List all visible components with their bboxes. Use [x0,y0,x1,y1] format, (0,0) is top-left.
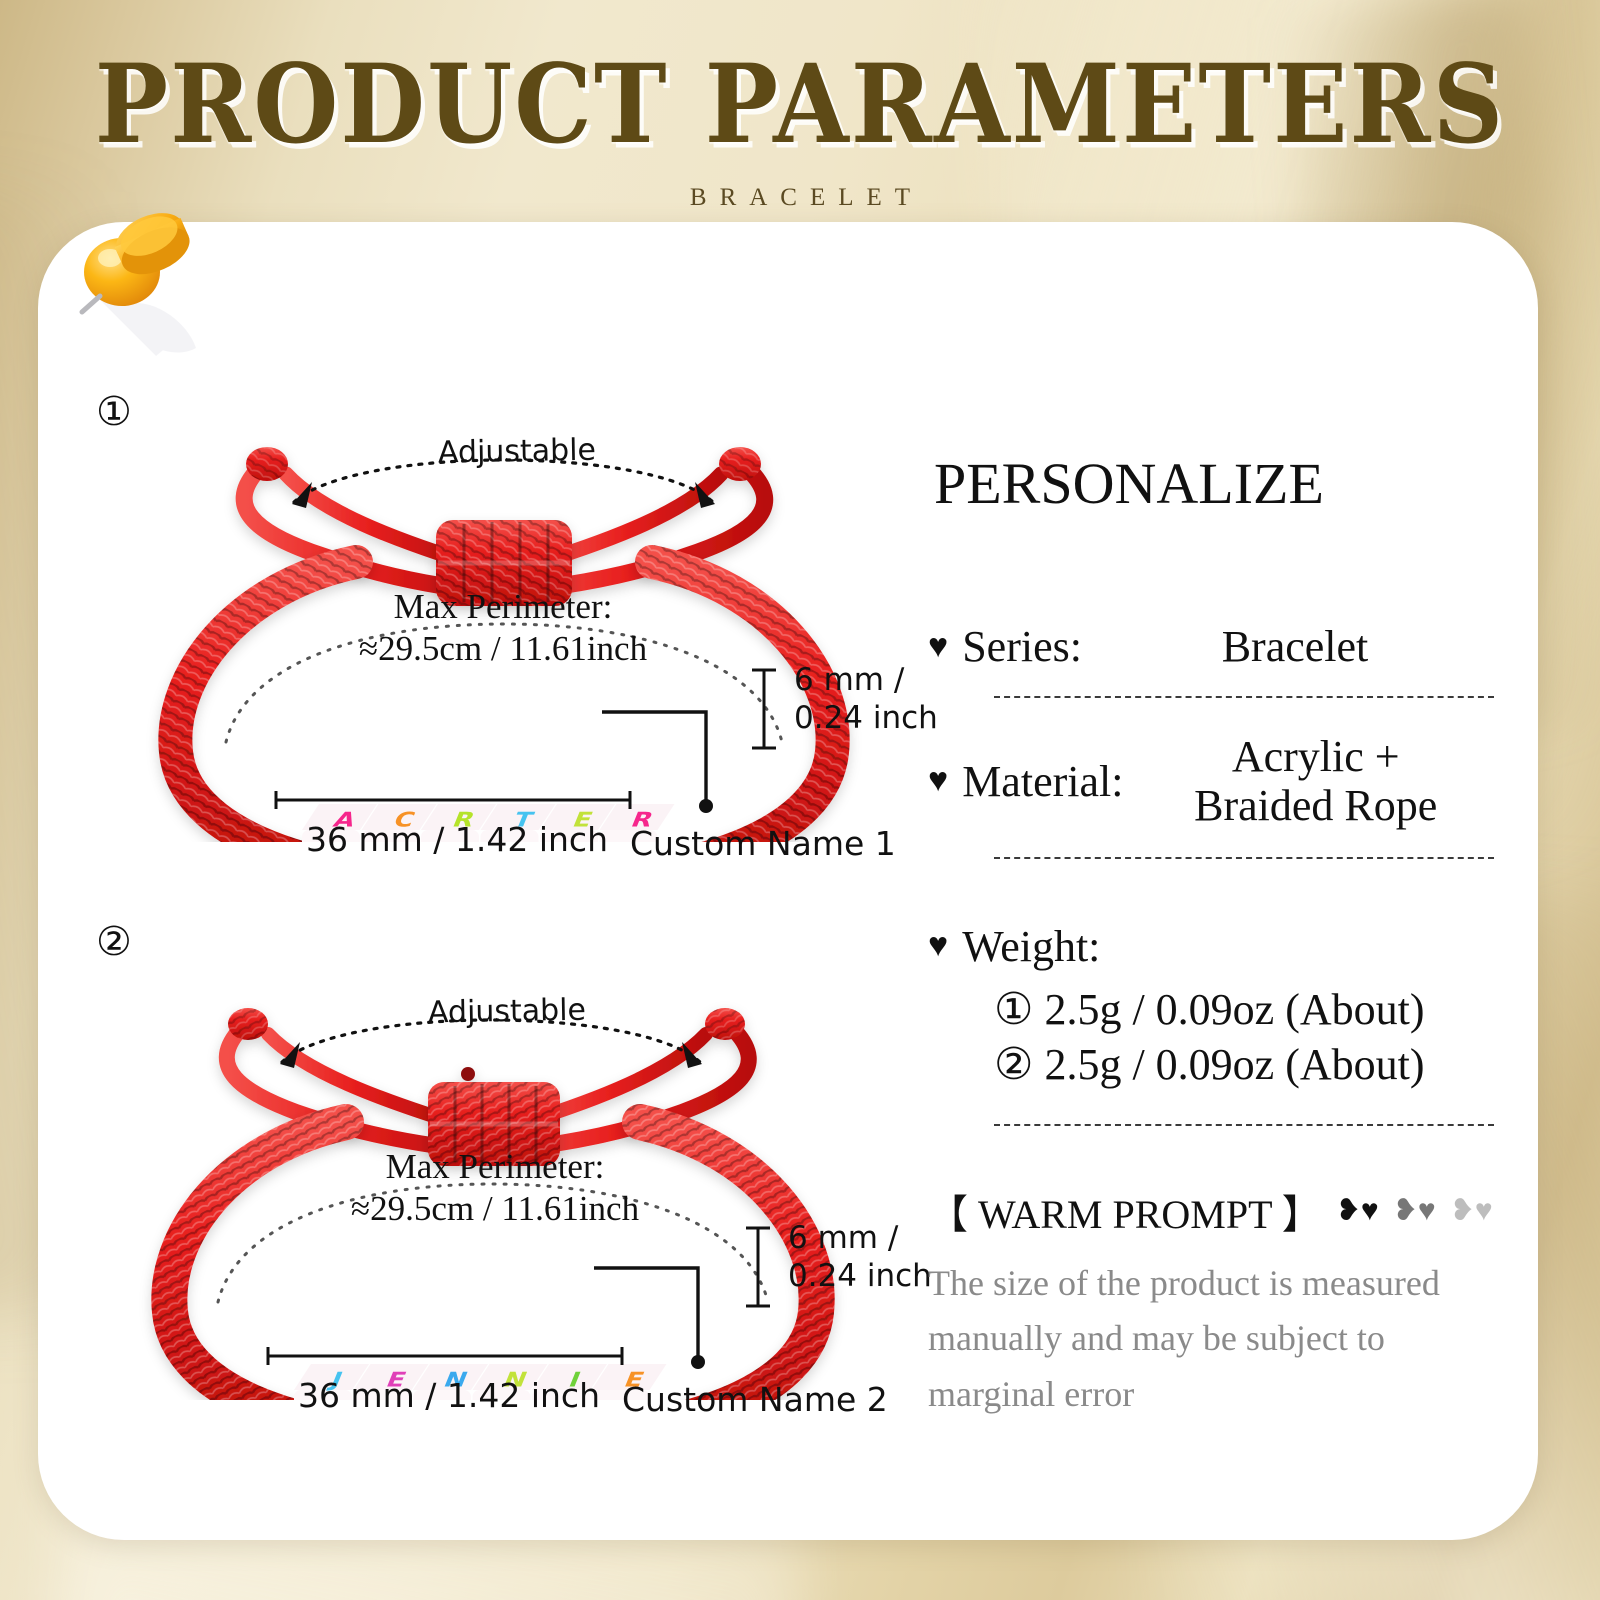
spec-divider-2 [994,857,1494,859]
page-subtitle: BRACELET [0,184,1600,212]
warm-prompt-heading: 【 WARM PROMPT 】 ❥♥ ❥♥ ❥♥ [928,1182,1508,1240]
heart-icon: ♥ [928,929,948,963]
adjustable-label-2: Adjustable [428,993,587,1032]
spec-row-weight: ♥ Weight: [928,921,1508,972]
double-heart-icon-light: ❥♥ [1450,1193,1493,1228]
spec-divider-3 [994,1124,1494,1126]
spec-divider-1 [994,696,1494,698]
header: PRODUCT PARAMETERS BRACELET [0,0,1600,212]
spec-value-series: Bracelet [1082,622,1508,671]
perimeter-value-2: ≈29.5cm / 11.61inch [320,1186,670,1232]
weight-line-2: ② 2.5g / 0.09oz (About) [994,1037,1508,1092]
custom-name-leader-1 [598,702,758,822]
warm-prompt-body: The size of the product is measured manu… [928,1256,1448,1423]
double-heart-icon-dark: ❥♥ [1336,1193,1379,1228]
height-label-1: 6 mm / 0.24 inch [794,662,938,738]
spec-key-series: Series: [962,621,1082,672]
specification-panel: PERSONALIZE ♥ Series: Bracelet ♥ Materia… [928,455,1508,1423]
page-title: PRODUCT PARAMETERS [0,50,1600,159]
perimeter-label-1: Max Perimeter: [338,584,668,630]
width-dimension-2 [260,1344,630,1368]
spec-key-weight: Weight: [962,921,1100,972]
panel-heading: PERSONALIZE [928,455,1330,517]
spec-key-material: Material: [962,756,1123,807]
heart-icon: ♥ [928,630,948,664]
double-heart-icon-mid: ❥♥ [1393,1193,1436,1228]
custom-name-label-1: Custom Name 1 [630,824,896,864]
custom-name-leader-2 [590,1258,750,1378]
perimeter-label-2: Max Perimeter: [330,1144,660,1190]
spec-row-series: ♥ Series: Bracelet [928,621,1508,672]
adjustable-label-1: Adjustable [438,433,597,472]
weight-line-1: ① 2.5g / 0.09oz (About) [994,982,1508,1037]
custom-name-label-2: Custom Name 2 [622,1380,888,1420]
width-dimension-1 [268,788,638,812]
width-label-2: 36 mm / 1.42 inch [298,1376,600,1416]
width-label-1: 36 mm / 1.42 inch [306,820,608,860]
spec-value-material: Acrylic + Braided Rope [1123,732,1508,831]
warm-prompt-title: 【 WARM PROMPT 】 [928,1182,1322,1240]
content-card: ① [38,222,1538,1540]
spec-row-material: ♥ Material: Acrylic + Braided Rope [928,732,1508,831]
section-marker-2: ② [96,922,132,962]
perimeter-value-1: ≈29.5cm / 11.61inch [328,626,678,672]
height-label-2: 6 mm / 0.24 inch [788,1220,932,1296]
heart-icon: ♥ [928,764,948,798]
